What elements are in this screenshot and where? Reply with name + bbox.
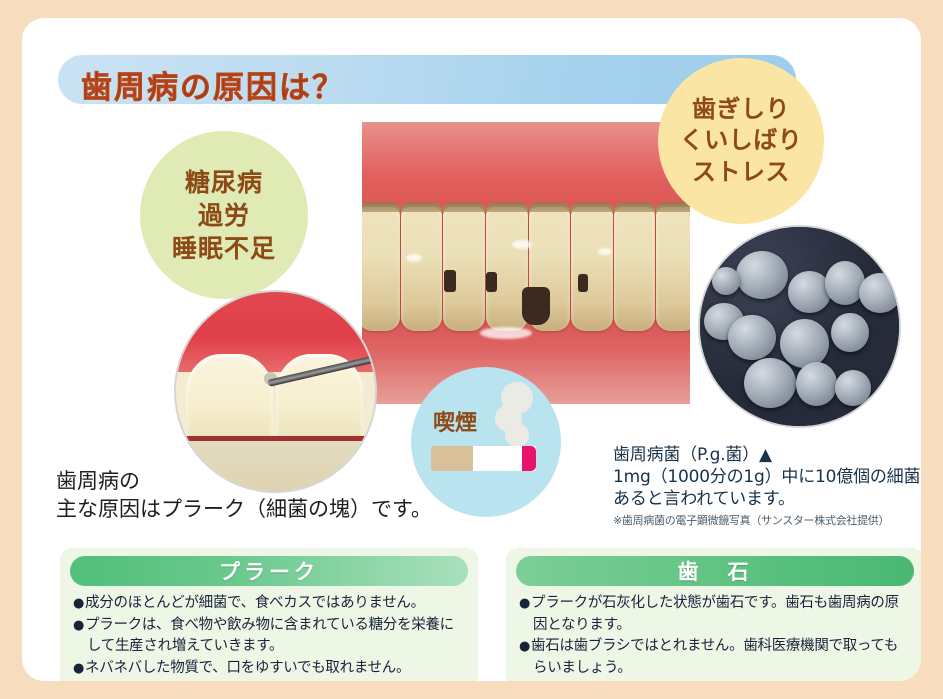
plaque-caption-line-2: 主な原因はプラーク（細菌の塊）です。: [56, 496, 432, 524]
main-clinical-photo: [362, 122, 690, 404]
tooth: [656, 207, 690, 331]
photo-highlight: [406, 254, 422, 262]
tooth: [571, 207, 613, 331]
bacterium: [796, 362, 838, 406]
stress-line-1: 歯ぎしり: [692, 94, 790, 125]
bacteria-caption-credit: ※歯周病菌の電子顕微鏡写真（サンスター株式会社提供）: [613, 514, 921, 528]
circle-systemic-factors: 糖尿病 過労 睡眠不足: [140, 131, 308, 299]
stress-line-2: くいしばり: [680, 125, 803, 156]
info-box-plaque-header: プラーク: [70, 556, 468, 586]
tooth-gap: [444, 270, 456, 292]
circle-teeth-closeup-photo: [174, 290, 377, 493]
poster-root: 歯周病の原因は？ 糖尿: [0, 0, 943, 699]
smoking-label: 喫煙: [433, 405, 477, 437]
bacteria-caption: 歯周病菌（P.g.菌）▲ 1mg（1000分の1g）中に10億個の細菌が あると…: [613, 444, 921, 529]
bullet-item-continuation: 因となります。: [519, 615, 911, 636]
systemic-line-3: 睡眠不足: [172, 232, 276, 265]
circle-smoking-factor: 喫煙: [411, 367, 561, 517]
poster-card: 歯周病の原因は？ 糖尿: [22, 18, 921, 681]
bacterium: [728, 315, 776, 361]
bacterium: [744, 358, 796, 408]
bacteria-caption-line-3: あると言われています。: [613, 488, 921, 510]
bacterium: [859, 273, 901, 313]
page-title: 歯周病の原因は？: [81, 62, 345, 107]
plaque-caption: 歯周病の 主な原因はプラーク（細菌の塊）です。: [56, 468, 432, 523]
tooth: [401, 207, 443, 331]
stress-line-3: ストレス: [692, 157, 790, 188]
bacterium: [712, 267, 740, 295]
bullet-item: ネバネバした物質で、口をゆすいでも取れません。: [73, 658, 465, 679]
tooth: [443, 207, 485, 331]
info-box-tartar-title: 歯 石: [678, 556, 753, 586]
cigarette-filter-icon: [431, 446, 473, 471]
gum-line: [176, 436, 375, 441]
incisor-left: [186, 354, 274, 450]
tooth-gap: [578, 274, 588, 292]
info-box-tartar-bullets: プラークが石灰化した状態が歯石です。歯石も歯周病の原 因となります。 歯石は歯ブ…: [516, 593, 914, 679]
bacteria-caption-line-1: 歯周病菌（P.g.菌）▲: [613, 444, 921, 466]
photo-highlight: [512, 240, 532, 249]
systemic-line-1: 糖尿病: [185, 166, 263, 199]
tooth-gap: [522, 287, 550, 325]
bullet-item-continuation: らいましょう。: [519, 658, 911, 679]
tooth: [614, 207, 656, 331]
tooth-gap: [486, 272, 497, 292]
info-box-plaque-bullets: 成分のほとんどが細菌で、食べカスではありません。 プラークは、食べ物や飲み物に含…: [70, 593, 468, 679]
bullet-item: プラークが石灰化した状態が歯石です。歯石も歯周病の原: [519, 593, 911, 614]
bacterium: [831, 313, 869, 353]
info-box-plaque-title: プラーク: [219, 556, 319, 586]
bacterium: [835, 370, 871, 406]
circle-bacteria-micrograph: [698, 225, 901, 428]
bacteria-caption-line-2: 1mg（1000分の1g）中に10億個の細菌が: [613, 466, 921, 488]
bullet-item: 歯石は歯ブラシではとれません。歯科医療機関で取っても: [519, 636, 911, 657]
circle-stress-factors: 歯ぎしり くいしばり ストレス: [658, 58, 824, 224]
info-box-tartar: 歯 石 プラークが石灰化した状態が歯石です。歯石も歯周病の原 因となります。 歯…: [506, 548, 921, 681]
info-box-plaque: プラーク 成分のほとんどが細菌で、食べカスではありません。 プラークは、食べ物や…: [60, 548, 478, 681]
bullet-item: 成分のほとんどが細菌で、食べカスではありません。: [73, 593, 465, 614]
systemic-line-2: 過労: [198, 199, 250, 232]
photo-highlight: [598, 248, 612, 255]
bullet-item: プラークは、食べ物や飲み物に含まれている糖分を栄養に: [73, 615, 465, 636]
photo-highlight: [480, 327, 532, 339]
bacterium: [736, 251, 788, 299]
cigarette-ember-icon: [522, 446, 536, 471]
info-box-tartar-header: 歯 石: [516, 556, 914, 586]
bullet-item-continuation: して生産され増えていきます。: [73, 636, 465, 657]
smoke-puff-icon: [505, 423, 529, 447]
plaque-caption-line-1: 歯周病の: [56, 468, 432, 496]
